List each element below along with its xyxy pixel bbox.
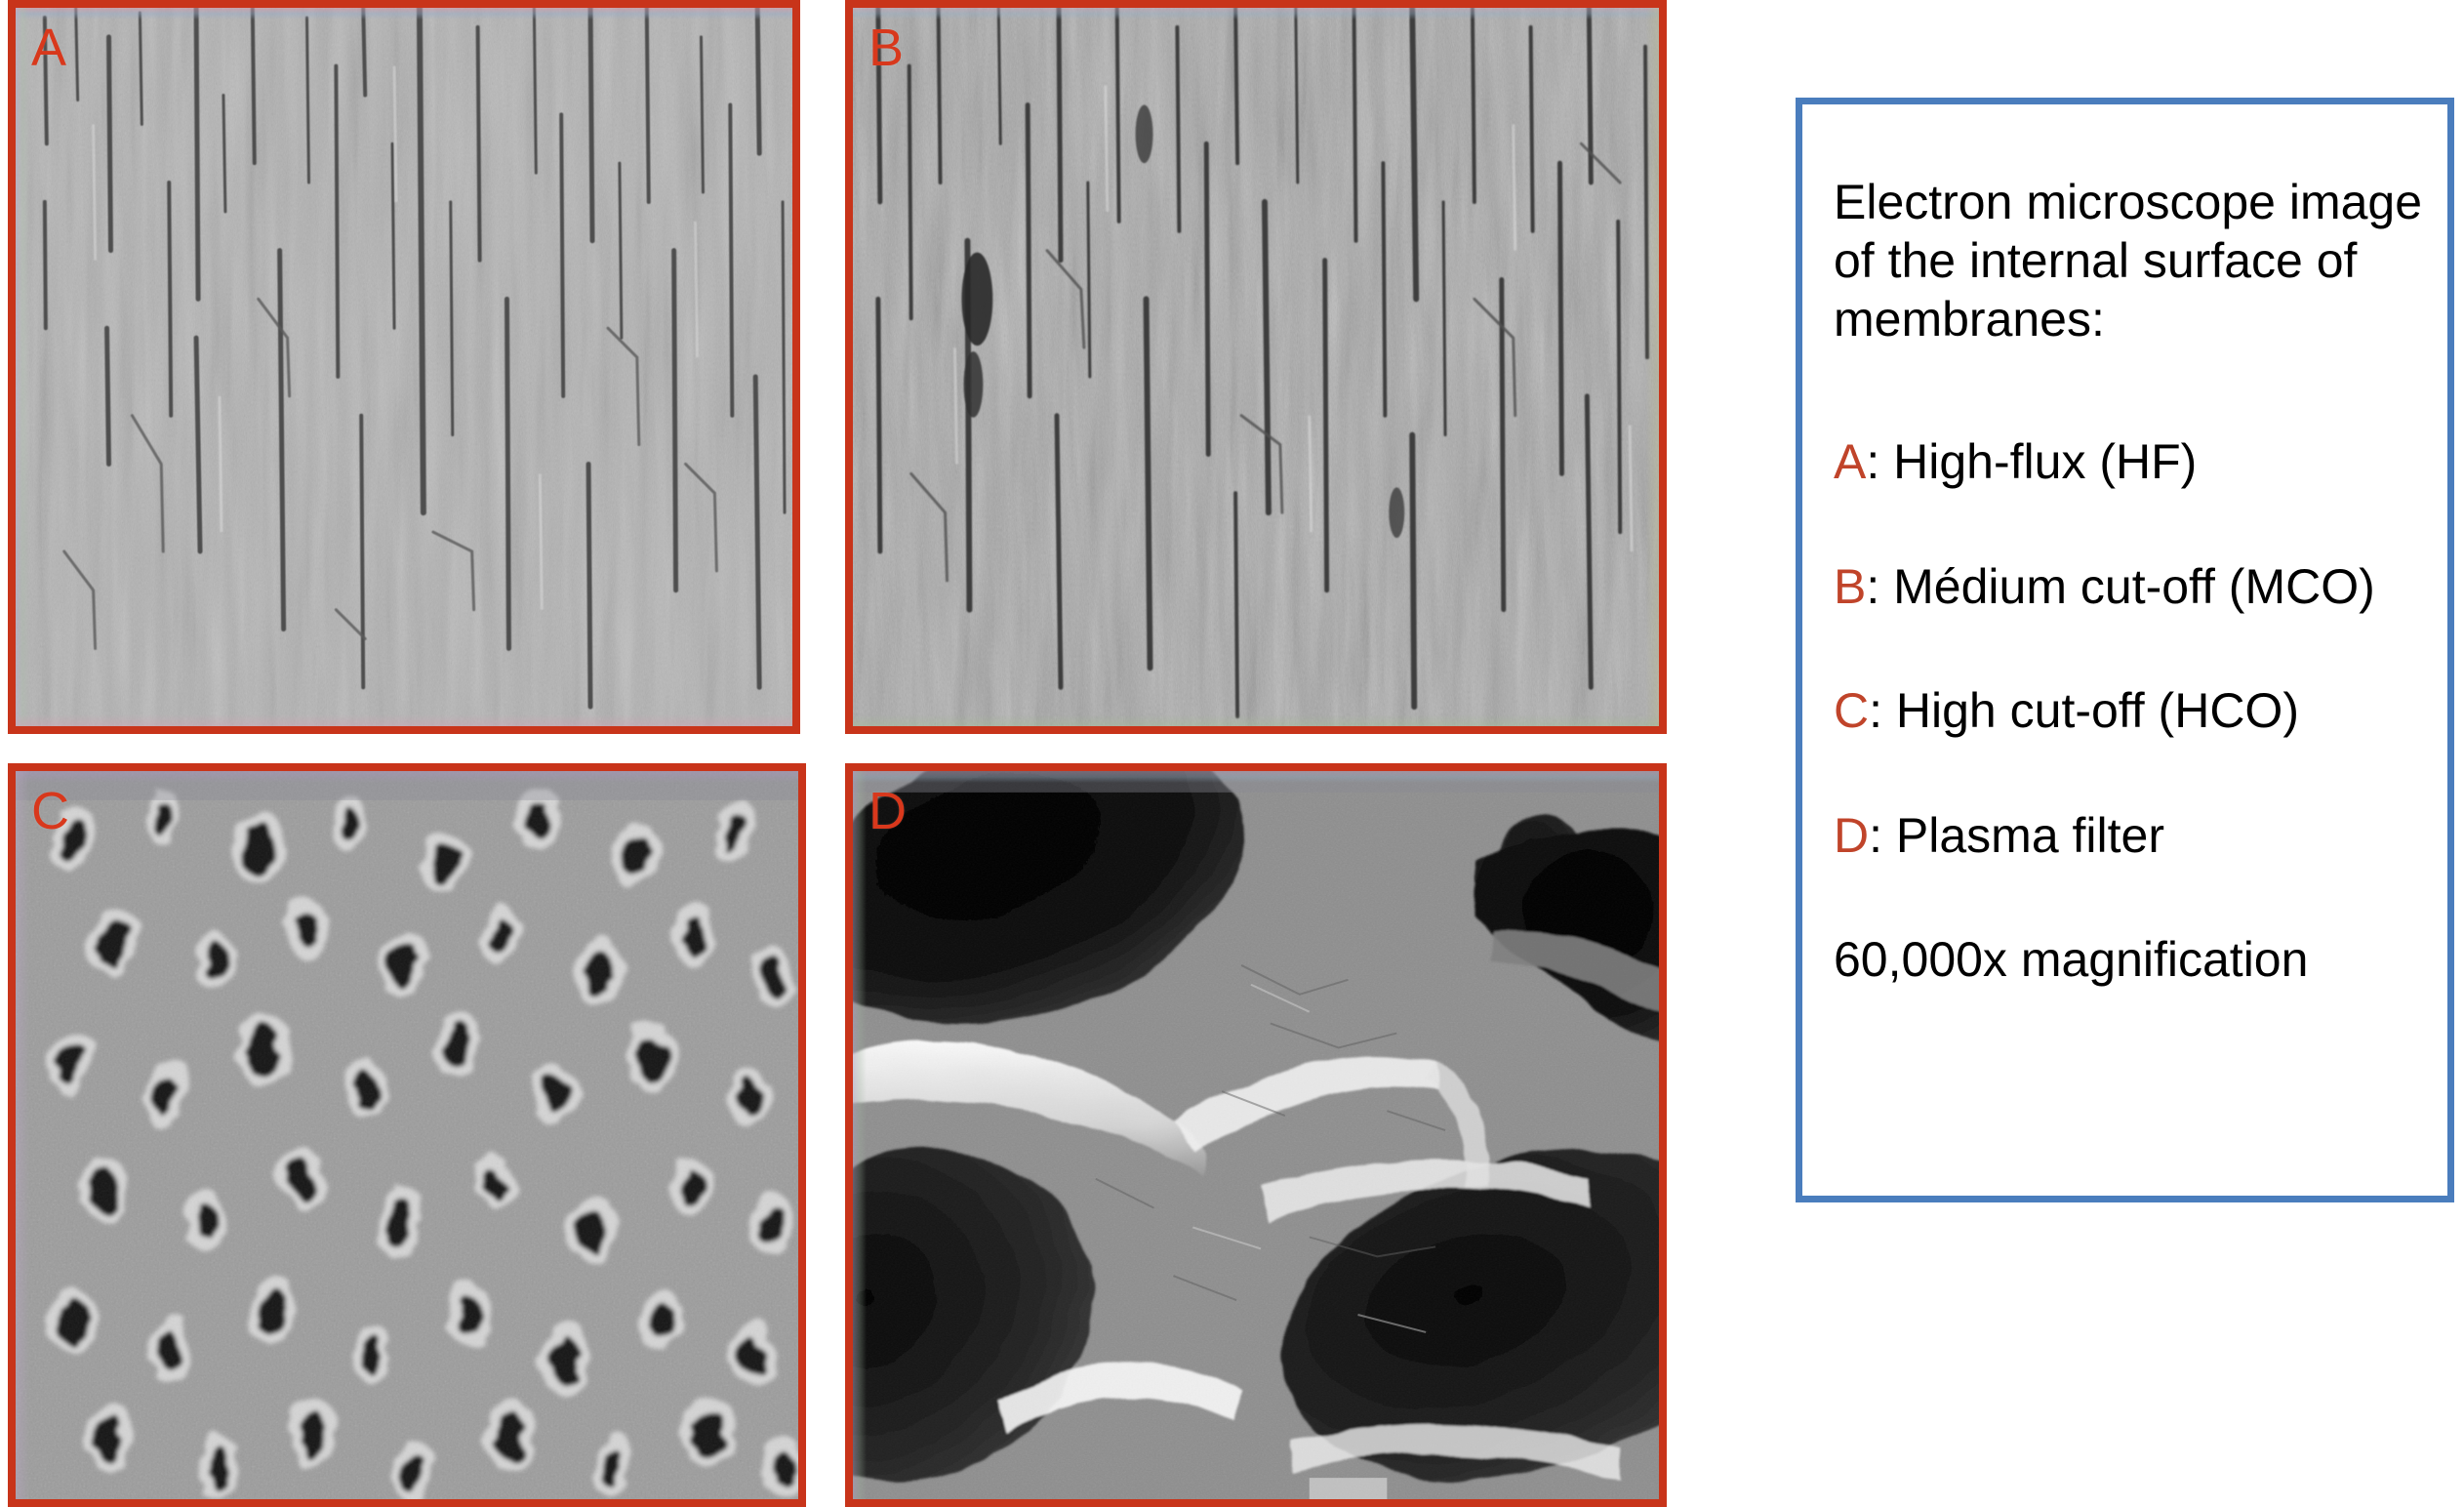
micrograph-panel-d: D (845, 763, 1667, 1507)
micrograph-panel-b: B (845, 0, 1667, 734)
legend-intro-text: Electron microscope image of the interna… (1834, 173, 2426, 348)
micrograph-panel-c: C (8, 763, 806, 1507)
legend-text-b: Médium cut-off (MCO) (1893, 559, 2375, 614)
panel-a-texture (16, 8, 792, 726)
legend-key-a: A (1834, 434, 1866, 489)
panel-label-c: C (31, 785, 69, 837)
panel-label-b: B (868, 21, 904, 74)
legend-key-d: D (1834, 808, 1869, 863)
legend-text-c: High cut-off (HCO) (1896, 683, 2299, 738)
micrograph-panel-a: A (8, 0, 800, 734)
legend-text-d: Plasma filter (1896, 808, 2164, 863)
legend-entry-c: C: High cut-off (HCO) (1834, 683, 2426, 740)
legend-entry-b: B: Médium cut-off (MCO) (1834, 559, 2426, 616)
legend-entry-a: A: High-flux (HF) (1834, 434, 2426, 491)
panel-a-image (16, 8, 792, 726)
legend-key-b: B (1834, 559, 1866, 614)
legend-sep-b: : (1866, 559, 1893, 614)
legend-sep-c: : (1869, 683, 1896, 738)
legend-entry-d: D: Plasma filter (1834, 808, 2426, 865)
legend-key-c: C (1834, 683, 1869, 738)
panel-d-texture (853, 771, 1659, 1499)
panel-c-image (16, 771, 798, 1499)
legend-text-a: High-flux (HF) (1893, 434, 2197, 489)
panel-d-image (853, 771, 1659, 1499)
panel-b-texture (853, 8, 1659, 726)
legend-magnification: 60,000x magnification (1834, 932, 2426, 989)
legend-sep-d: : (1869, 808, 1896, 863)
panel-label-d: D (868, 785, 907, 837)
panel-c-texture (16, 771, 798, 1499)
panel-label-a: A (31, 21, 66, 74)
panel-b-image (853, 8, 1659, 726)
legend-sep-a: : (1866, 434, 1893, 489)
legend-box: Electron microscope image of the interna… (1796, 98, 2454, 1202)
